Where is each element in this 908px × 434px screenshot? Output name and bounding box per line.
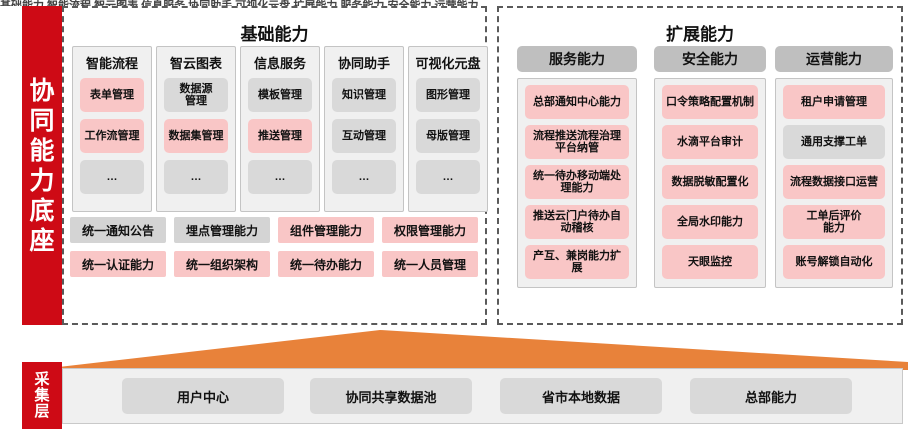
ext-capability-chip[interactable]: 通用支撑工单: [783, 125, 885, 159]
base-capability-chip[interactable]: 互动管理: [332, 119, 396, 153]
base-capability-chip[interactable]: 图形管理: [416, 78, 480, 112]
ext-capability-chip[interactable]: 天眼监控: [662, 245, 758, 279]
ext-capability-chip[interactable]: 租户申请管理: [783, 85, 885, 119]
foundation-capability-chip[interactable]: 统一待办能力: [278, 251, 374, 277]
ext-capability-chip[interactable]: 流程推送流程治理平台纳管: [525, 125, 629, 159]
base-capability-chip[interactable]: …: [80, 160, 144, 194]
base-capability-chip[interactable]: 推送管理: [248, 119, 312, 153]
base-capability-panel: 基础能力 智能流程表单管理工作流管理…智云图表数据源管理数据集管理…信息服务模板…: [62, 6, 487, 325]
ext-capability-column[interactable]: 安全能力口令策略配置机制水滴平台审计数据脱敏配置化全局水印能力天眼监控: [654, 46, 766, 288]
ext-capability-chip[interactable]: 统一待办移动端处理能力: [525, 165, 629, 199]
base-panel-title: 基础能力: [64, 20, 485, 45]
foundation-capability-chip[interactable]: 埋点管理能力: [174, 217, 270, 243]
ext-column-title: 服务能力: [517, 46, 637, 72]
collect-layer-chip[interactable]: 总部能力: [690, 378, 852, 414]
collect-side-label-char: 集: [34, 388, 49, 404]
base-column-title: 信息服务: [241, 53, 319, 72]
base-side-label-char: 同: [29, 106, 54, 136]
base-capability-chip[interactable]: 知识管理: [332, 78, 396, 112]
base-layer-side-label: 协同能力底座: [22, 6, 62, 325]
base-column-title: 协同助手: [325, 53, 403, 72]
ext-capability-chip[interactable]: 全局水印能力: [662, 205, 758, 239]
foundation-capability-chip[interactable]: 统一组织架构: [174, 251, 270, 277]
ext-capability-column[interactable]: 服务能力总部通知中心能力流程推送流程治理平台纳管统一待办移动端处理能力推送云门户…: [517, 46, 637, 288]
ext-column-body: 租户申请管理通用支撑工单流程数据接口运营工单后评价能力账号解锁自动化: [775, 78, 893, 288]
foundation-capability-chip[interactable]: 组件管理能力: [278, 217, 374, 243]
extended-capability-panel: 扩展能力 服务能力总部通知中心能力流程推送流程治理平台纳管统一待办移动端处理能力…: [497, 6, 903, 325]
base-capability-column[interactable]: 智能流程表单管理工作流管理…: [72, 46, 152, 212]
ext-panel-title: 扩展能力: [499, 20, 901, 45]
base-capability-chip[interactable]: 模板管理: [248, 78, 312, 112]
base-side-label-char: 协: [29, 76, 54, 106]
ext-column-body: 口令策略配置机制水滴平台审计数据脱敏配置化全局水印能力天眼监控: [654, 78, 766, 288]
ext-capability-chip[interactable]: 口令策略配置机制: [662, 85, 758, 119]
foundation-capability-chip[interactable]: 统一通知公告: [70, 217, 166, 243]
base-column-title: 智能流程: [73, 53, 151, 72]
base-side-label-char: 力: [29, 166, 54, 196]
collect-side-label-char: 层: [34, 404, 49, 420]
base-column-title: 智云图表: [157, 53, 235, 72]
base-capability-column[interactable]: 智云图表数据源管理数据集管理…: [156, 46, 236, 212]
base-capability-chip[interactable]: 母版管理: [416, 119, 480, 153]
ext-capability-chip[interactable]: 水滴平台审计: [662, 125, 758, 159]
base-side-label-char: 底: [29, 196, 54, 226]
base-capability-chip[interactable]: 数据集管理: [164, 119, 228, 153]
ext-capability-chip[interactable]: 数据脱敏配置化: [662, 165, 758, 199]
base-capability-chip[interactable]: …: [332, 160, 396, 194]
base-capability-chip[interactable]: 工作流管理: [80, 119, 144, 153]
ext-capability-chip[interactable]: 工单后评价能力: [783, 205, 885, 239]
ext-column-body: 总部通知中心能力流程推送流程治理平台纳管统一待办移动端处理能力推送云门户待办自动…: [517, 78, 637, 288]
base-capability-chip[interactable]: …: [164, 160, 228, 194]
collect-layer-chip[interactable]: 省市本地数据: [500, 378, 662, 414]
ext-capability-chip[interactable]: 推送云门户待办自动稽核: [525, 205, 629, 239]
collect-layer-chip[interactable]: 协同共享数据池: [310, 378, 472, 414]
foundation-capability-chip[interactable]: 统一人员管理: [382, 251, 478, 277]
foundation-capability-chip[interactable]: 统一认证能力: [70, 251, 166, 277]
ext-capability-column[interactable]: 运营能力租户申请管理通用支撑工单流程数据接口运营工单后评价能力账号解锁自动化: [775, 46, 893, 288]
collect-layer-side-label: 采集层: [22, 362, 62, 429]
ext-capability-chip[interactable]: 产互、兼岗能力扩展: [525, 245, 629, 279]
base-capability-chip[interactable]: …: [248, 160, 312, 194]
ext-capability-chip[interactable]: 账号解锁自动化: [783, 245, 885, 279]
collect-layer-chip[interactable]: 用户中心: [122, 378, 284, 414]
base-capability-chip[interactable]: 表单管理: [80, 78, 144, 112]
collect-side-label-char: 采: [34, 372, 49, 388]
ext-capability-chip[interactable]: 流程数据接口运营: [783, 165, 885, 199]
base-capability-column[interactable]: 可视化元盘图形管理母版管理…: [408, 46, 488, 212]
base-capability-chip[interactable]: 数据源管理: [164, 78, 228, 112]
base-capability-column[interactable]: 协同助手知识管理互动管理…: [324, 46, 404, 212]
orange-wedge-divider: [50, 330, 908, 370]
base-side-label-char: 能: [29, 136, 54, 166]
base-column-title: 可视化元盘: [409, 53, 487, 72]
ext-column-title: 运营能力: [775, 46, 893, 72]
base-capability-column[interactable]: 信息服务模板管理推送管理…: [240, 46, 320, 212]
base-side-label-char: 座: [29, 226, 54, 256]
base-capability-chip[interactable]: …: [416, 160, 480, 194]
foundation-capability-chip[interactable]: 权限管理能力: [382, 217, 478, 243]
ext-column-title: 安全能力: [654, 46, 766, 72]
ext-capability-chip[interactable]: 总部通知中心能力: [525, 85, 629, 119]
